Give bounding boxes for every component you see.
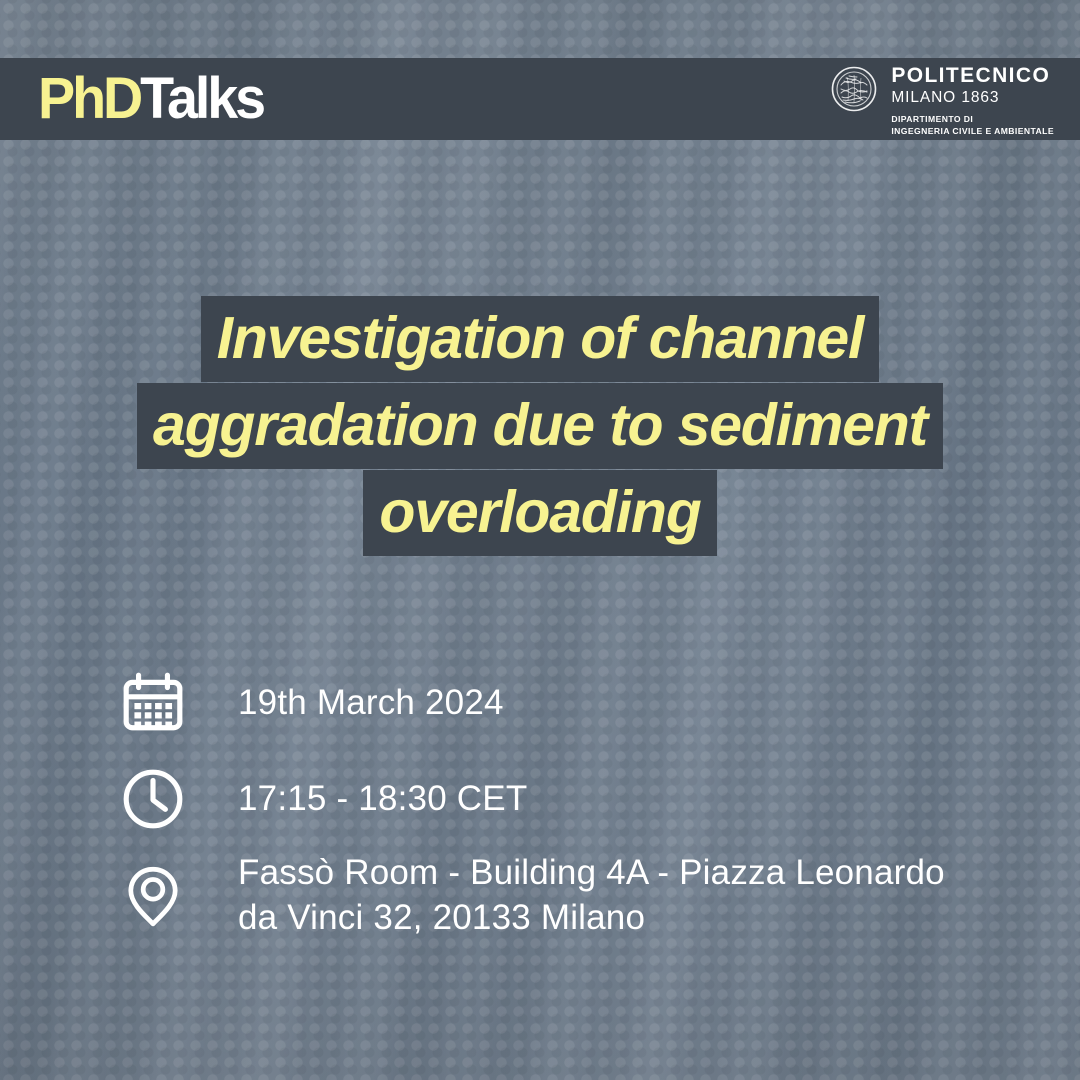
detail-row-location: Fassò Room - Building 4A - Piazza Leonar…	[112, 847, 1012, 943]
politecnico-seal-icon	[830, 65, 878, 113]
politecnico-department: DIPARTIMENTO DI INGEGNERIA CIVILE E AMBI…	[891, 114, 1054, 137]
phdtalks-logo-talks: Talks	[140, 70, 263, 128]
event-date: 19th March 2024	[238, 680, 504, 726]
clock-icon	[112, 766, 208, 832]
talk-title-line-2: aggradation due to sediment	[137, 383, 943, 469]
phdtalks-logo: PhD Talks	[38, 70, 263, 128]
event-details: 19th March 2024 17:15 - 18:30 CET Fassò …	[112, 655, 1012, 943]
talk-title: Investigation of channel aggradation due…	[0, 296, 1080, 556]
event-time: 17:15 - 18:30 CET	[238, 776, 527, 822]
event-poster: PhD Talks	[0, 0, 1080, 1080]
politecnico-lockup: POLITECNICO MILANO 1863 DIPARTIMENTO DI …	[830, 61, 1054, 138]
detail-row-date: 19th March 2024	[112, 655, 1012, 751]
event-location: Fassò Room - Building 4A - Piazza Leonar…	[238, 850, 945, 941]
politecnico-name: POLITECNICO	[891, 65, 1054, 86]
talk-title-line-1: Investigation of channel	[201, 296, 880, 382]
calendar-icon	[112, 670, 208, 736]
detail-row-time: 17:15 - 18:30 CET	[112, 751, 1012, 847]
politecnico-year: MILANO 1863	[891, 90, 1054, 106]
phdtalks-logo-phd: PhD	[38, 70, 140, 128]
talk-title-line-3: overloading	[363, 470, 716, 556]
politecnico-text: POLITECNICO MILANO 1863 DIPARTIMENTO DI …	[891, 65, 1054, 138]
header-band: PhD Talks	[0, 58, 1080, 140]
map-pin-icon	[112, 862, 208, 928]
